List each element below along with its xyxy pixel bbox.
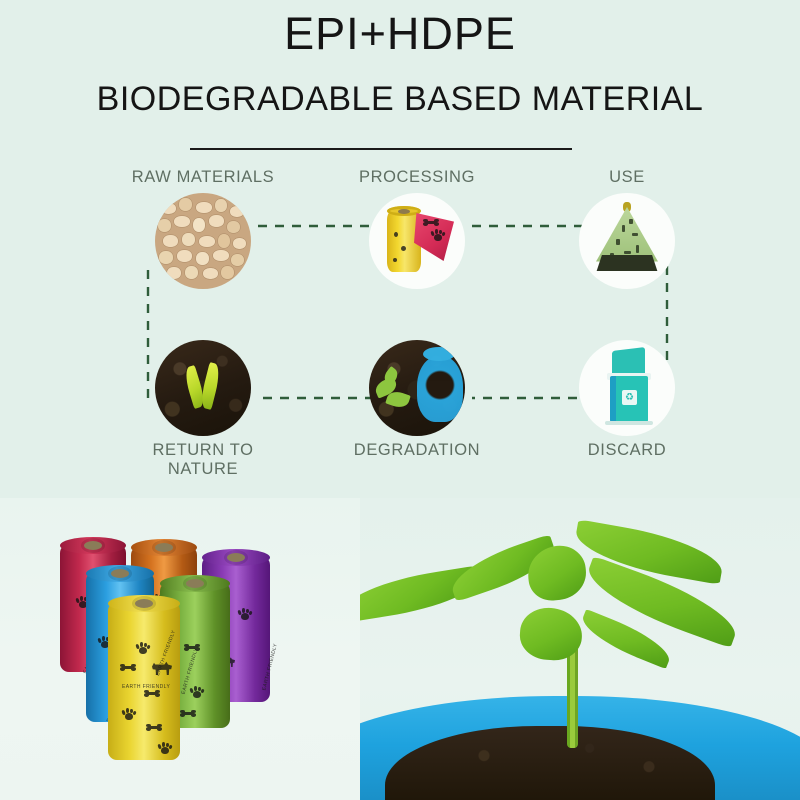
page-subtitle: BIODEGRADABLE BASED MATERIAL xyxy=(0,80,800,119)
lifecycle-step-discard[interactable]: ♻ DISCARD xyxy=(547,340,707,460)
product-photo-band: EARTH FRIENDLY EARTH FRIENDLY xyxy=(0,498,800,800)
lifecycle-label-raw-materials: RAW MATERIALS xyxy=(123,168,283,187)
bag-roll-icon xyxy=(369,193,465,289)
tied-waste-bag-icon xyxy=(579,193,675,289)
lifecycle-step-return-to-nature[interactable]: RETURN TO NATURE xyxy=(123,340,283,479)
lifecycle-label-return-to-nature: RETURN TO NATURE xyxy=(123,441,283,479)
product-infographic-poster: EPI+HDPE BIODEGRADABLE BASED MATERIAL xyxy=(0,0,800,800)
bag-roll-yellow: EARTH FRIENDLY EARTH FRIENDLY xyxy=(108,602,180,760)
lifecycle-label-degradation: DEGRADATION xyxy=(337,441,497,460)
lifecycle-label-use: USE xyxy=(547,168,707,187)
lifecycle-step-degradation[interactable]: DEGRADATION xyxy=(337,340,497,460)
seedling-photo xyxy=(330,498,800,800)
lifecycle-label-discard: DISCARD xyxy=(547,441,707,460)
pellets-icon xyxy=(155,193,251,289)
lifecycle-label-processing: PROCESSING xyxy=(337,168,497,187)
degradation-soil-icon xyxy=(369,340,465,436)
seedling-soil-icon xyxy=(155,340,251,436)
roll-brand-text: EARTH FRIENDLY xyxy=(261,643,278,691)
page-title: EPI+HDPE xyxy=(0,8,800,60)
header-divider xyxy=(190,148,572,150)
lifecycle-step-processing[interactable]: PROCESSING xyxy=(337,168,497,289)
lifecycle-step-use[interactable]: USE xyxy=(547,168,707,289)
lifecycle-step-raw-materials[interactable]: RAW MATERIALS xyxy=(123,168,283,289)
bag-rolls-photo: EARTH FRIENDLY EARTH FRIENDLY xyxy=(0,498,360,800)
trash-bin-icon: ♻ xyxy=(579,340,675,436)
lifecycle-diagram: RAW MATERIALS xyxy=(0,160,800,500)
roll-brand-text: EARTH FRIENDLY xyxy=(122,684,170,690)
